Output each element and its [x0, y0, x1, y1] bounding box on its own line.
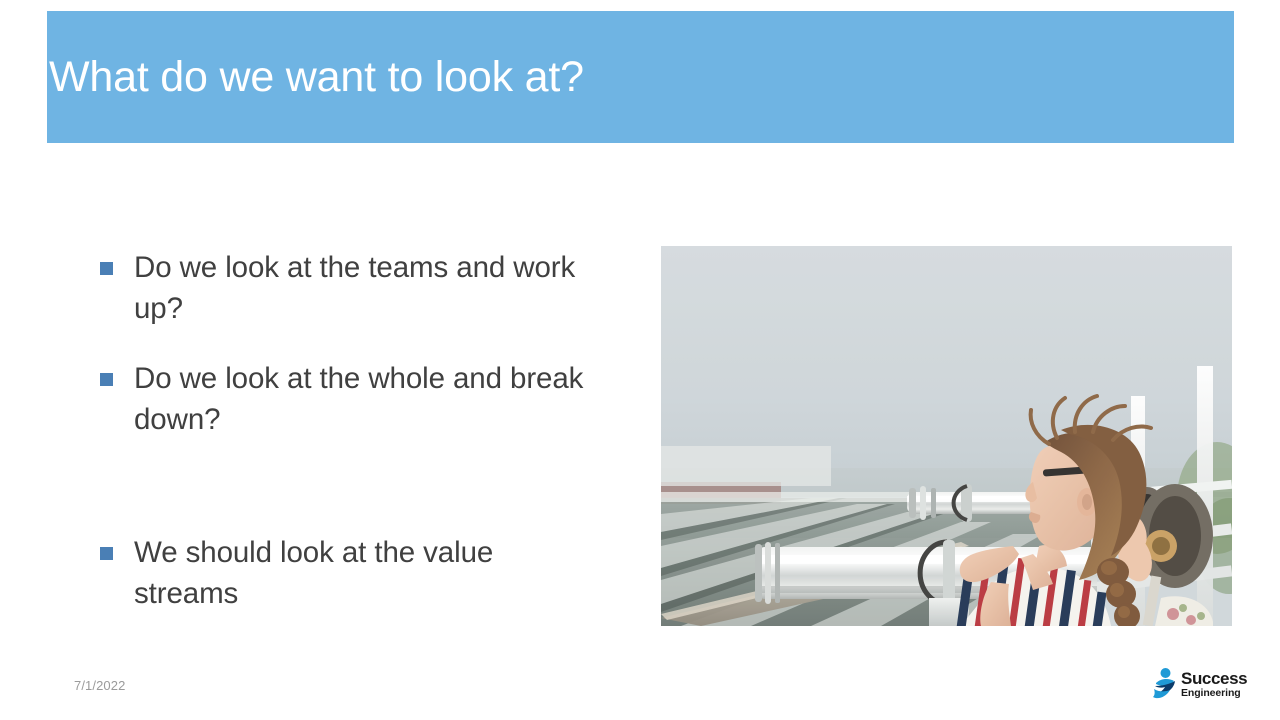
- logo-line-1: Success: [1181, 670, 1247, 687]
- square-bullet-icon: [100, 373, 113, 386]
- list-item: Do we look at the teams and work up?: [100, 248, 600, 329]
- slide-date: 7/1/2022: [74, 678, 125, 693]
- slide: What do we want to look at? Do we look a…: [0, 0, 1280, 720]
- logo-line-2: Engineering: [1181, 688, 1247, 699]
- list-item: Do we look at the whole and break down?: [100, 359, 600, 440]
- success-engineering-figure-icon: [1152, 667, 1178, 701]
- list-item: We should look at the value streams: [100, 533, 600, 614]
- list-item-label: We should look at the value streams: [134, 533, 600, 614]
- bullet-list: Do we look at the teams and work up? Do …: [100, 248, 600, 614]
- telescope-photo-illustration: [661, 246, 1232, 626]
- slide-photo: [661, 246, 1232, 626]
- square-bullet-icon: [100, 547, 113, 560]
- page-title: What do we want to look at?: [47, 56, 584, 99]
- list-item-label: Do we look at the whole and break down?: [134, 359, 600, 440]
- title-banner: What do we want to look at?: [47, 11, 1234, 143]
- square-bullet-icon: [100, 262, 113, 275]
- list-item-label: Do we look at the teams and work up?: [134, 248, 600, 329]
- company-logo: Success Engineering: [1152, 663, 1262, 705]
- logo-wordmark: Success Engineering: [1181, 670, 1247, 699]
